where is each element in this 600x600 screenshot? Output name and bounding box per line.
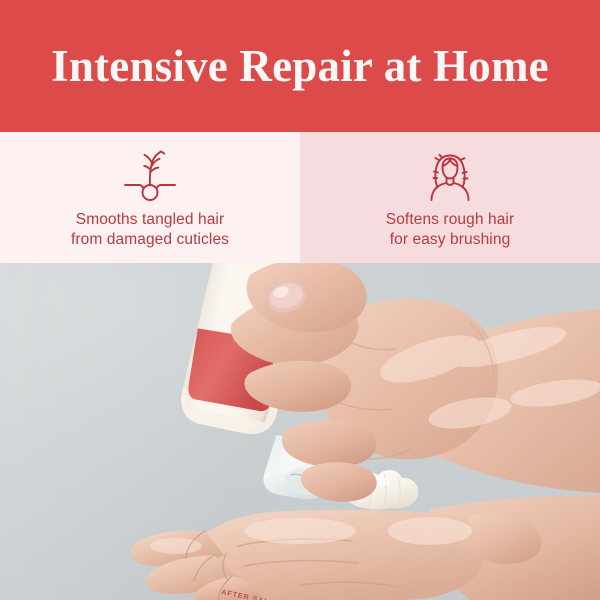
open-palm-hand — [131, 495, 600, 600]
benefit-caption-line-1: Smooths tangled hair — [71, 210, 229, 230]
product-photo: AFTER SALON HAIR PACK TREATMENT Contains… — [0, 263, 600, 600]
benefit-caption: Softens rough hair for easy brushing — [386, 210, 514, 251]
benefit-panels: Smooths tangled hair from damaged cuticl… — [0, 132, 600, 263]
benefit-caption: Smooths tangled hair from damaged cuticl… — [71, 210, 229, 251]
benefit-panel-smooths-tangled-hair: Smooths tangled hair from damaged cuticl… — [0, 132, 300, 263]
product-infographic: Intensive Repair at Home — [0, 0, 600, 600]
photo-illustration — [0, 263, 600, 600]
benefit-panel-softens-rough-hair: Softens rough hair for easy brushing — [300, 132, 600, 263]
header-banner: Intensive Repair at Home — [0, 0, 600, 132]
page-title: Intensive Repair at Home — [51, 44, 549, 89]
benefit-caption-line-1: Softens rough hair — [386, 210, 514, 230]
benefit-caption-line-2: from damaged cuticles — [71, 230, 229, 250]
hair-follicle-icon — [119, 144, 181, 206]
benefit-caption-line-2: for easy brushing — [386, 230, 514, 250]
woman-with-long-hair-icon — [418, 144, 482, 206]
